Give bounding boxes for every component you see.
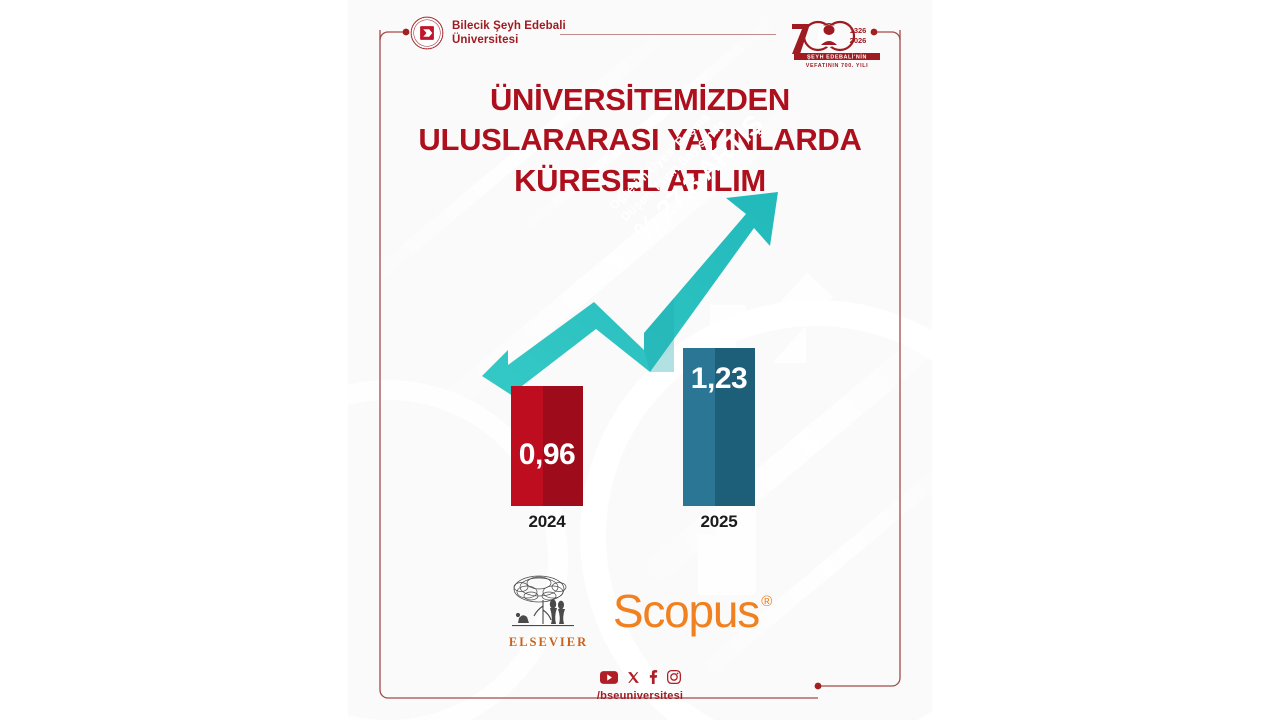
bar-group-2025: 1,23 2025 (683, 348, 755, 532)
university-name: Bilecik Şeyh Edebali Üniversitesi (452, 19, 566, 47)
anniversary-line1: ŞEYH EDEBALİ'NİN (807, 54, 867, 61)
scopus-wordmark: Scopus (613, 585, 759, 637)
poster-footer: /bseuniversitesi (348, 667, 932, 702)
elsevier-tree-icon (509, 572, 587, 634)
instagram-icon[interactable] (667, 670, 681, 684)
title-line-1: ÜNİVERSİTEMİZDEN (348, 80, 932, 120)
anniversary-emblem-icon: 1326 2026 ŞEYH EDEBALİ'NİN VEFATININ 700… (780, 12, 892, 70)
university-name-line1: Bilecik Şeyh Edebali (452, 19, 566, 33)
university-brand: Bilecik Şeyh Edebali Üniversitesi (410, 16, 566, 50)
bar-value-2025: 1,23 (683, 362, 755, 396)
anniversary-year-from: 1326 (850, 26, 867, 35)
bar-group-2024: 0,96 2024 (511, 386, 583, 532)
facebook-icon[interactable] (649, 670, 658, 684)
page-title: ÜNİVERSİTEMİZDEN ULUSLARARASI YAYINLARDA… (348, 80, 932, 201)
infographic-poster: Bilecik Şeyh Edebali Üniversitesi 1326 (348, 0, 932, 720)
database-logos: ELSEVIER Scopus® (348, 572, 932, 650)
screenshot-root: Bilecik Şeyh Edebali Üniversitesi 1326 (0, 0, 1280, 720)
scopus-registered-mark: ® (761, 594, 771, 609)
elsevier-wordmark: ELSEVIER (509, 635, 587, 650)
university-name-line2: Üniversitesi (452, 33, 566, 47)
bar-2024: 0,96 (511, 386, 583, 506)
title-line-2: ULUSLARARASI YAYINLARDA (348, 120, 932, 160)
anniversary-line2: VEFATININ 700. YILI (806, 63, 868, 69)
university-seal-icon (410, 16, 444, 50)
social-links (600, 667, 681, 687)
poster-header: Bilecik Şeyh Edebali Üniversitesi 1326 (348, 12, 932, 70)
bar-value-2024: 0,96 (511, 438, 583, 472)
bar-label-2025: 2025 (683, 512, 755, 532)
elsevier-logo: ELSEVIER (509, 572, 587, 650)
header-divider (560, 34, 776, 35)
bar-label-2024: 2024 (511, 512, 583, 532)
bar-chart: Öğretim Üyesi Başına Düşen Yayın Sayısın… (348, 190, 932, 560)
scopus-logo: Scopus® (613, 588, 771, 634)
anniversary-year-to: 2026 (850, 36, 867, 45)
bar-2025: 1,23 (683, 348, 755, 506)
youtube-icon[interactable] (600, 671, 618, 684)
social-handle: /bseuniversitesi (597, 690, 683, 702)
x-twitter-icon[interactable] (627, 671, 640, 684)
